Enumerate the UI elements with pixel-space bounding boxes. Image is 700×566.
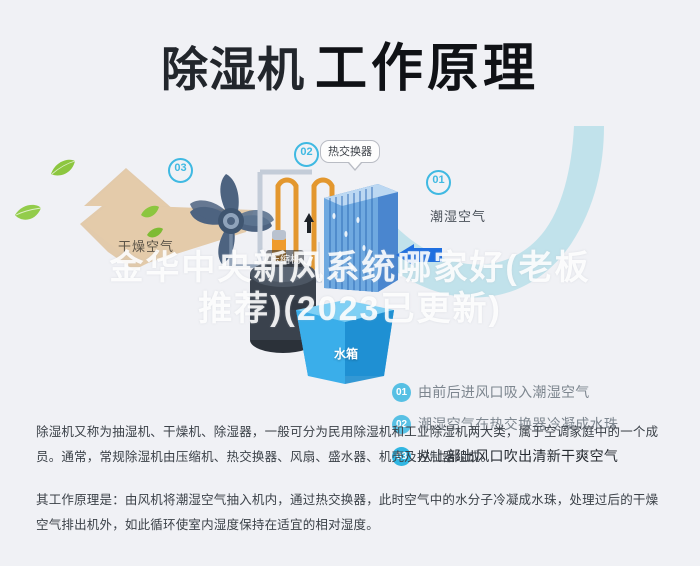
humid-air-label: 潮湿空气 xyxy=(430,206,486,225)
page-title-part2: 工作原理 xyxy=(315,41,539,98)
leaf-icon xyxy=(146,226,164,240)
step-item: 01 由前后进风口吸入潮湿空气 xyxy=(392,376,692,408)
airflow-swoosh-decoration xyxy=(396,124,646,354)
dehumidifier-diagram: 03 干燥空气 xyxy=(0,118,700,400)
leaf-icon xyxy=(140,204,160,220)
heat-exchanger-label: 热交换器 xyxy=(320,140,380,163)
leaf-icon xyxy=(50,158,76,178)
water-tank-illustration xyxy=(292,298,398,384)
body-paragraph-2: 其工作原理是：由风机将潮湿空气抽入机内，通过热交换器，此时空气中的水分子冷凝成水… xyxy=(36,488,666,538)
article-body: 除湿机又称为抽湿机、干燥机、除湿器，一般可分为民用除湿机和工业除湿机两大类，属于… xyxy=(36,420,666,538)
badge-01-humid-air: 01 xyxy=(426,170,451,195)
air-inlet-arrow xyxy=(396,244,442,266)
water-tank-label: 水箱 xyxy=(330,344,362,363)
badge-02-heat-exchanger: 02 xyxy=(294,142,319,167)
step-number: 01 xyxy=(392,383,411,402)
heat-exchanger-illustration xyxy=(318,176,404,304)
leaf-icon xyxy=(14,202,42,224)
step-text: 由前后进风口吸入潮湿空气 xyxy=(418,382,590,402)
poster-root: 除湿机工作原理 03 干燥空气 xyxy=(0,0,700,566)
page-title: 除湿机工作原理 xyxy=(0,26,700,101)
page-title-part1: 除湿机 xyxy=(161,43,305,96)
compressor-label: 压缩机 xyxy=(266,250,304,267)
body-paragraph-1: 除湿机又称为抽湿机、干燥机、除湿器，一般可分为民用除湿机和工业除湿机两大类，属于… xyxy=(36,420,666,470)
